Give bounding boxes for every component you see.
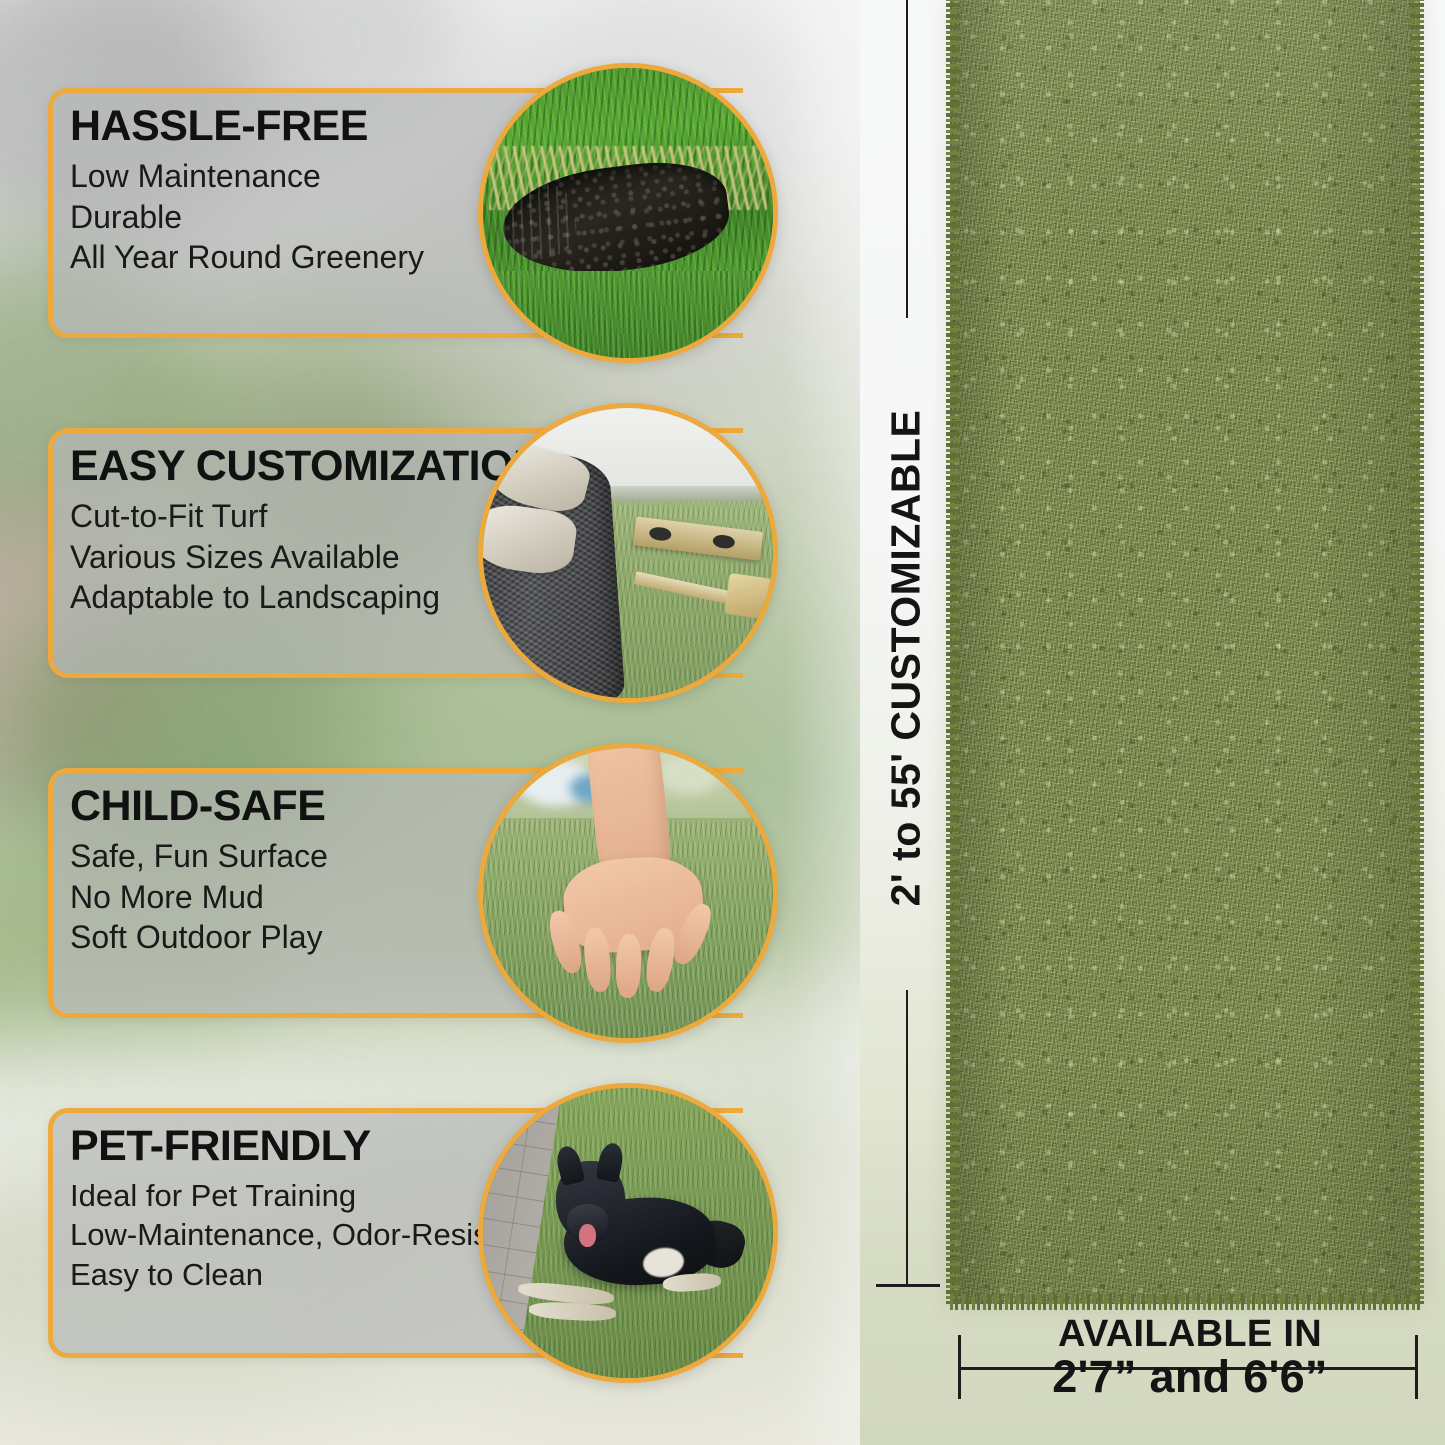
product-infographic-poster: 2' to 55' CUSTOMIZABLE AVAILABLE IN 2'7”… bbox=[0, 0, 1445, 1445]
turf-bottom-edge bbox=[950, 1294, 1420, 1310]
turf-roll-product-image bbox=[950, 0, 1420, 1304]
turf-left-edge bbox=[946, 0, 960, 1304]
child-hand-on-turf-photo bbox=[478, 743, 778, 1043]
turf-right-edge bbox=[1410, 0, 1424, 1304]
length-measure-line-bottom bbox=[906, 990, 908, 1286]
length-measure-line-top bbox=[906, 0, 908, 318]
feature-card-pet-friendly: PET-FRIENDLY Ideal for Pet Training Low-… bbox=[48, 1108, 748, 1358]
feature-card-easy-customization: EASY CUSTOMIZATION Cut-to-Fit Turf Vario… bbox=[48, 428, 748, 678]
turf-cross-section-photo bbox=[478, 63, 778, 363]
length-measure-end-tick bbox=[876, 1284, 940, 1287]
feature-card-child-safe: CHILD-SAFE Safe, Fun Surface No More Mud… bbox=[48, 768, 748, 1018]
dog-on-turf-photo bbox=[478, 1083, 778, 1383]
length-dimension-label: 2' to 55' CUSTOMIZABLE bbox=[883, 410, 930, 907]
width-label-line-2: 2'7” and 6'6” bbox=[960, 1355, 1420, 1399]
width-label-line-1: AVAILABLE IN bbox=[960, 1316, 1420, 1353]
feature-card-hassle-free: HASSLE-FREE Low Maintenance Durable All … bbox=[48, 88, 748, 338]
turf-installation-photo bbox=[478, 403, 778, 703]
width-dimension-label: AVAILABLE IN 2'7” and 6'6” bbox=[960, 1316, 1420, 1399]
